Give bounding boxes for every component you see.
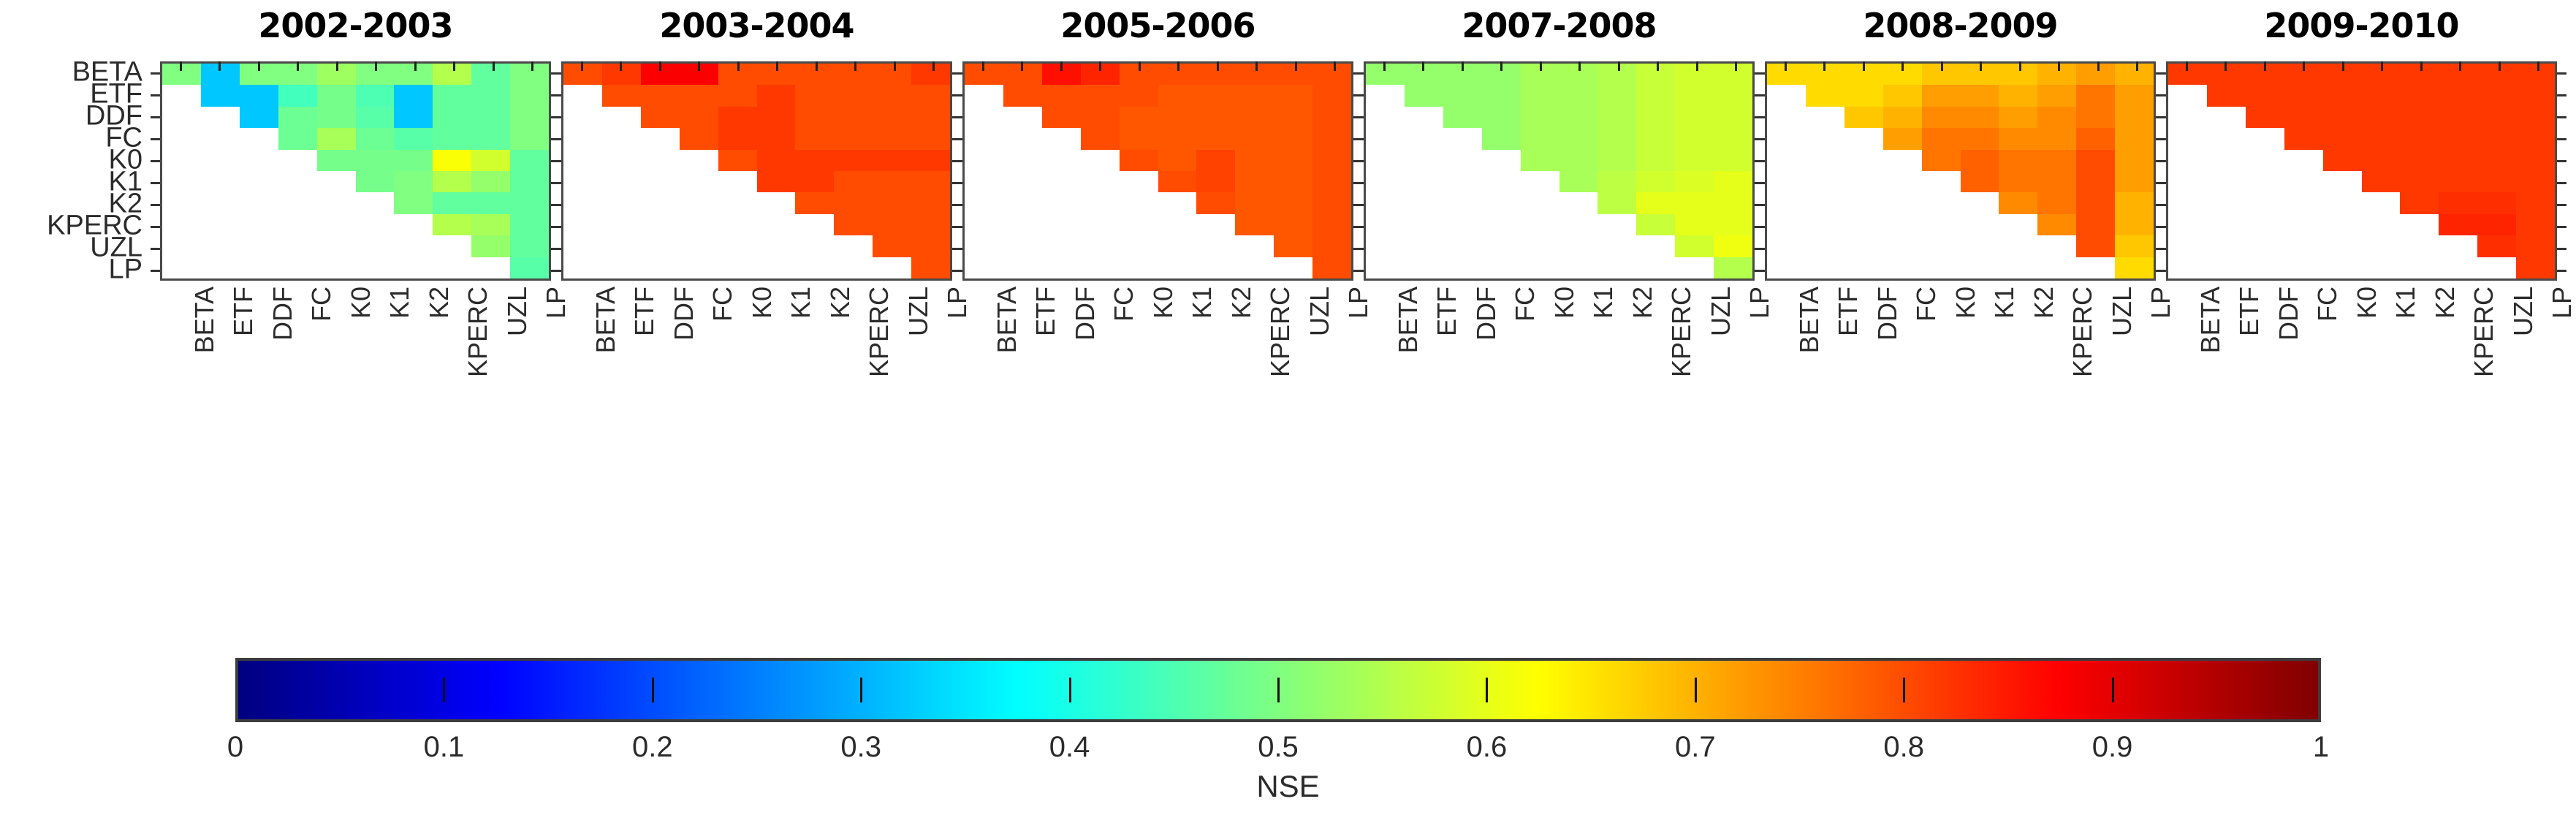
y-axis-tick bbox=[1755, 226, 1765, 228]
heatmap-cell bbox=[1999, 107, 2037, 128]
heatmap-cell bbox=[718, 150, 757, 171]
heatmap-cell bbox=[278, 85, 317, 106]
y-axis-tick bbox=[2157, 116, 2166, 118]
heatmap-cell bbox=[1081, 150, 1120, 171]
heatmap-cell bbox=[2439, 257, 2477, 278]
y-axis-tick bbox=[1354, 160, 1364, 162]
heatmap-cell bbox=[2439, 214, 2477, 235]
heatmap-cell bbox=[641, 235, 680, 257]
heatmap-cell bbox=[1521, 128, 1559, 149]
panel-title-2008-2009: 2008-2009 bbox=[1765, 6, 2156, 45]
x-axis-label-fc: FC bbox=[2312, 287, 2343, 322]
y-axis-tick bbox=[151, 94, 160, 96]
y-axis-tick bbox=[953, 72, 962, 75]
heatmap-cell bbox=[2076, 107, 2115, 128]
heatmap-cell bbox=[1961, 128, 1999, 149]
x-axis-tick bbox=[297, 61, 299, 71]
heatmap-cell bbox=[1844, 214, 1883, 235]
heatmap-cell bbox=[1366, 192, 1405, 213]
heatmap-cell bbox=[2362, 85, 2401, 106]
x-axis-tick bbox=[698, 61, 700, 71]
x-axis-label-k2: K2 bbox=[424, 287, 455, 319]
heatmap-cell bbox=[1806, 85, 1844, 106]
heatmap-cell bbox=[602, 192, 641, 213]
heatmap-grid bbox=[1364, 61, 1755, 281]
heatmap-cell bbox=[1675, 257, 1714, 278]
y-axis-tick bbox=[151, 72, 160, 75]
y-axis-tick bbox=[1354, 72, 1364, 75]
panel-title-2002-2003: 2002-2003 bbox=[160, 6, 551, 45]
x-axis-tick bbox=[1980, 61, 1982, 71]
x-axis-tick bbox=[2097, 61, 2100, 71]
heatmap-cell bbox=[2037, 214, 2076, 235]
heatmap-grid bbox=[962, 61, 1353, 281]
x-axis-label-etf: ETF bbox=[1030, 287, 1061, 336]
heatmap-cell bbox=[1405, 214, 1443, 235]
heatmap-cell bbox=[641, 214, 680, 235]
heatmap-cell bbox=[2284, 107, 2323, 128]
heatmap-cell bbox=[1366, 257, 1405, 278]
y-axis-tick bbox=[1354, 204, 1364, 206]
heatmap-cell bbox=[795, 257, 834, 278]
x-axis-label-k1: K1 bbox=[786, 287, 816, 319]
x-axis-label-fc: FC bbox=[1510, 287, 1540, 322]
heatmap-cell bbox=[433, 171, 471, 192]
heatmap-cell bbox=[1003, 85, 1042, 106]
heatmap-cell bbox=[1196, 171, 1235, 192]
x-axis-label-beta: BETA bbox=[1794, 287, 1825, 353]
heatmap-cell bbox=[471, 257, 510, 278]
x-axis-tick bbox=[1823, 61, 1825, 71]
heatmap-cell bbox=[510, 64, 549, 85]
heatmap-cell bbox=[1636, 171, 1675, 192]
heatmap-cell bbox=[757, 171, 796, 192]
x-axis-label-fc: FC bbox=[1911, 287, 1942, 322]
heatmap-cell bbox=[873, 128, 911, 149]
heatmap-cell bbox=[911, 214, 950, 235]
x-axis-tick bbox=[1099, 61, 1101, 71]
heatmap-cell bbox=[2516, 235, 2555, 257]
heatmap-cell bbox=[1312, 85, 1351, 106]
x-axis-label-etf: ETF bbox=[2234, 287, 2265, 336]
x-axis-label-fc: FC bbox=[1109, 287, 1139, 322]
y-axis-tick bbox=[151, 160, 160, 162]
heatmap-cell bbox=[911, 171, 950, 192]
x-axis-tick bbox=[453, 61, 455, 71]
heatmap-cell bbox=[2037, 171, 2076, 192]
x-axis-label-kperc: KPERC bbox=[2067, 287, 2098, 377]
heatmap-cell bbox=[1521, 171, 1559, 192]
heatmap-cell bbox=[1806, 257, 1844, 278]
heatmap-cell bbox=[1443, 214, 1482, 235]
heatmap-cell bbox=[1714, 192, 1752, 213]
heatmap-cell bbox=[2323, 107, 2362, 128]
heatmap-cell bbox=[680, 107, 718, 128]
heatmap-cell bbox=[356, 107, 395, 128]
heatmap-cell bbox=[1482, 85, 1521, 106]
heatmap-cell bbox=[834, 128, 873, 149]
heatmap-cell bbox=[680, 192, 718, 213]
x-axis-label-lp: LP bbox=[2547, 287, 2576, 319]
y-axis-tick bbox=[953, 248, 962, 250]
y-axis-label-lp: LP bbox=[109, 254, 143, 286]
heatmap-cell bbox=[2477, 214, 2516, 235]
colorbar-tick-label-0.3: 0.3 bbox=[840, 731, 881, 764]
heatmap-cell bbox=[471, 107, 510, 128]
heatmap-cell bbox=[1767, 192, 1806, 213]
heatmap-cell bbox=[510, 150, 549, 171]
heatmap-cell bbox=[1081, 128, 1120, 149]
heatmap-cell bbox=[240, 235, 278, 257]
heatmap-cell bbox=[2207, 85, 2246, 106]
x-axis-labels: BETAETFDDFFCK0K1K2KPERCUZLLP bbox=[160, 287, 551, 433]
heatmap-cell bbox=[1312, 64, 1351, 85]
heatmap-cell bbox=[1636, 235, 1675, 257]
heatmap-cell bbox=[2284, 257, 2323, 278]
heatmap-cell bbox=[2362, 192, 2401, 213]
x-axis-label-k0: K0 bbox=[1148, 287, 1179, 319]
heatmap-cell bbox=[1675, 128, 1714, 149]
x-axis-tick bbox=[258, 61, 260, 71]
heatmap-cell bbox=[1405, 171, 1443, 192]
heatmap-panel-2003-2004 bbox=[561, 61, 952, 281]
y-axis-tick bbox=[2157, 270, 2166, 272]
heatmap-cell bbox=[1714, 171, 1752, 192]
heatmap-cell bbox=[2439, 235, 2477, 257]
heatmap-cell bbox=[1961, 171, 1999, 192]
heatmap-cell bbox=[641, 192, 680, 213]
heatmap-cell bbox=[433, 235, 471, 257]
heatmap-cell bbox=[2362, 171, 2401, 192]
heatmap-cell bbox=[563, 171, 602, 192]
nse-heatmap-figure: BETAETFDDFFCK0K1K2KPERCUZLLP 2002-2003BE… bbox=[0, 0, 2576, 815]
heatmap-cell bbox=[2516, 128, 2555, 149]
x-axis-labels: BETAETFDDFFCK0K1K2KPERCUZLLP bbox=[1364, 287, 1755, 433]
x-axis-labels: BETAETFDDFFCK0K1K2KPERCUZLLP bbox=[2166, 287, 2557, 433]
heatmap-cell bbox=[1042, 257, 1081, 278]
heatmap-cell bbox=[1883, 85, 1922, 106]
heatmap-cell bbox=[563, 107, 602, 128]
heatmap-cell bbox=[1714, 128, 1752, 149]
heatmap-cell bbox=[2362, 257, 2401, 278]
x-axis-label-k0: K0 bbox=[346, 287, 376, 319]
heatmap-cell bbox=[1235, 171, 1274, 192]
heatmap-cell bbox=[356, 150, 395, 171]
heatmap-cell bbox=[2439, 64, 2477, 85]
heatmap-panel-2005-2006 bbox=[962, 61, 1353, 281]
heatmap-cell bbox=[2037, 64, 2076, 85]
heatmap-cell bbox=[1482, 150, 1521, 171]
heatmap-cell bbox=[2284, 128, 2323, 149]
x-axis-label-k1: K1 bbox=[384, 287, 415, 319]
heatmap-cell bbox=[1922, 171, 1961, 192]
heatmap-grid bbox=[1765, 61, 2156, 281]
heatmap-cell bbox=[2284, 192, 2323, 213]
heatmap-cell bbox=[2168, 235, 2207, 257]
heatmap-cell bbox=[1767, 171, 1806, 192]
heatmap-cell bbox=[1597, 171, 1636, 192]
heatmap-cell bbox=[2400, 150, 2439, 171]
heatmap-cell bbox=[1636, 214, 1675, 235]
heatmap-cell bbox=[873, 171, 911, 192]
heatmap-cell bbox=[2400, 235, 2439, 257]
heatmap-cell bbox=[162, 192, 201, 213]
y-axis-tick bbox=[552, 116, 561, 118]
heatmap-cell bbox=[2516, 192, 2555, 213]
heatmap-cell bbox=[240, 214, 278, 235]
y-axis-tick bbox=[1755, 270, 1765, 272]
heatmap-cell bbox=[1597, 257, 1636, 278]
x-axis-tick bbox=[493, 61, 495, 71]
heatmap-cell bbox=[1443, 171, 1482, 192]
heatmap-cell bbox=[2400, 192, 2439, 213]
heatmap-cell bbox=[1675, 214, 1714, 235]
heatmap-cell bbox=[1081, 171, 1120, 192]
colorbar-tick-label-1: 1 bbox=[2313, 731, 2329, 764]
heatmap-cell bbox=[795, 171, 834, 192]
heatmap-cell bbox=[2323, 192, 2362, 213]
x-axis-tick bbox=[2264, 61, 2266, 71]
heatmap-cell bbox=[1767, 214, 1806, 235]
x-axis-tick bbox=[2303, 61, 2305, 71]
heatmap-cell bbox=[278, 235, 317, 257]
heatmap-cell bbox=[1961, 192, 1999, 213]
y-axis-tick bbox=[953, 138, 962, 140]
heatmap-cell bbox=[471, 214, 510, 235]
heatmap-cell bbox=[1081, 214, 1120, 235]
heatmap-cell bbox=[2037, 107, 2076, 128]
heatmap-cell bbox=[1158, 171, 1197, 192]
heatmap-cell bbox=[563, 192, 602, 213]
x-axis-tick bbox=[1863, 61, 1865, 71]
heatmap-cell bbox=[2439, 128, 2477, 149]
heatmap-cell bbox=[2516, 85, 2555, 106]
heatmap-cell bbox=[1559, 235, 1598, 257]
y-axis-tick bbox=[1755, 182, 1765, 184]
x-axis-tick bbox=[1462, 61, 1464, 71]
y-axis-tick bbox=[151, 248, 160, 250]
heatmap-cell bbox=[1559, 214, 1598, 235]
heatmap-cell bbox=[2246, 128, 2284, 149]
heatmap-cell bbox=[2115, 128, 2154, 149]
y-axis-tick bbox=[953, 226, 962, 228]
heatmap-cell bbox=[2246, 235, 2284, 257]
heatmap-cell bbox=[2076, 64, 2115, 85]
heatmap-cell bbox=[718, 107, 757, 128]
heatmap-cell bbox=[834, 235, 873, 257]
heatmap-cell bbox=[563, 150, 602, 171]
x-axis-labels: BETAETFDDFFCK0K1K2KPERCUZLLP bbox=[962, 287, 1353, 433]
y-axis-tick-right bbox=[2557, 160, 2566, 162]
heatmap-cell bbox=[1405, 85, 1443, 106]
heatmap-cell bbox=[563, 214, 602, 235]
heatmap-cell bbox=[1158, 128, 1197, 149]
heatmap-cell bbox=[1042, 85, 1081, 106]
heatmap-cell bbox=[2477, 85, 2516, 106]
y-axis-tick bbox=[1755, 72, 1765, 75]
heatmap-cell bbox=[2323, 150, 2362, 171]
heatmap-cell bbox=[1806, 150, 1844, 171]
heatmap-cell bbox=[356, 128, 395, 149]
heatmap-cell bbox=[2115, 107, 2154, 128]
x-axis-label-k1: K1 bbox=[1989, 287, 2020, 319]
heatmap-cell bbox=[795, 150, 834, 171]
heatmap-cell bbox=[965, 235, 1003, 257]
heatmap-cell bbox=[1883, 107, 1922, 128]
heatmap-grid bbox=[561, 61, 952, 281]
heatmap-cell bbox=[1003, 214, 1042, 235]
y-axis-tick-right bbox=[2557, 270, 2566, 272]
x-axis-label-ddf: DDF bbox=[1872, 287, 1903, 341]
heatmap-cell bbox=[2037, 235, 2076, 257]
heatmap-cell bbox=[602, 214, 641, 235]
heatmap-panel-2009-2010 bbox=[2166, 61, 2557, 281]
heatmap-cell bbox=[680, 235, 718, 257]
heatmap-cell bbox=[1675, 85, 1714, 106]
heatmap-cell bbox=[965, 192, 1003, 213]
heatmap-cell bbox=[911, 107, 950, 128]
x-axis-label-kperc: KPERC bbox=[2469, 287, 2499, 377]
heatmap-cell bbox=[563, 85, 602, 106]
heatmap-cell bbox=[1196, 150, 1235, 171]
heatmap-cell bbox=[2439, 85, 2477, 106]
heatmap-cell bbox=[1597, 150, 1636, 171]
x-axis-tick bbox=[816, 61, 818, 71]
heatmap-cell bbox=[162, 128, 201, 149]
y-axis-tick-right bbox=[2557, 116, 2566, 118]
heatmap-cell bbox=[1714, 214, 1752, 235]
heatmap-cell bbox=[394, 128, 433, 149]
heatmap-cell bbox=[1961, 214, 1999, 235]
heatmap-cell bbox=[471, 150, 510, 171]
heatmap-cell bbox=[394, 235, 433, 257]
heatmap-cell bbox=[2115, 214, 2154, 235]
y-axis-tick bbox=[552, 204, 561, 206]
heatmap-cell bbox=[1521, 107, 1559, 128]
y-axis-labels: BETAETFDDFFCK0K1K2KPERCUZLLP bbox=[0, 61, 150, 281]
heatmap-cell bbox=[2516, 257, 2555, 278]
x-axis-tick bbox=[1578, 61, 1581, 71]
heatmap-cell bbox=[1274, 171, 1312, 192]
heatmap-cell bbox=[1521, 85, 1559, 106]
heatmap-cell bbox=[2477, 192, 2516, 213]
heatmap-cell bbox=[2323, 235, 2362, 257]
heatmap-cell bbox=[1714, 150, 1752, 171]
x-axis-tick bbox=[1500, 61, 1502, 71]
heatmap-cell bbox=[2362, 128, 2401, 149]
y-axis-tick bbox=[1755, 204, 1765, 206]
heatmap-cell bbox=[602, 107, 641, 128]
heatmap-cell bbox=[1844, 85, 1883, 106]
heatmap-cell bbox=[757, 128, 796, 149]
heatmap-cell bbox=[2516, 150, 2555, 171]
heatmap-cell bbox=[1366, 85, 1405, 106]
heatmap-cell bbox=[795, 235, 834, 257]
x-axis-tick bbox=[1060, 61, 1063, 71]
y-axis-tick bbox=[552, 94, 561, 96]
heatmap-cell bbox=[1636, 192, 1675, 213]
x-axis-tick bbox=[336, 61, 338, 71]
heatmap-cell bbox=[1366, 171, 1405, 192]
x-axis-label-uzl: UZL bbox=[2107, 287, 2138, 336]
heatmap-cell bbox=[471, 128, 510, 149]
heatmap-cell bbox=[873, 107, 911, 128]
heatmap-cell bbox=[433, 85, 471, 106]
heatmap-cell bbox=[1120, 107, 1158, 128]
heatmap-cell bbox=[1806, 171, 1844, 192]
heatmap-cell bbox=[201, 150, 240, 171]
heatmap-cell bbox=[2439, 171, 2477, 192]
heatmap-cell bbox=[563, 257, 602, 278]
heatmap-cell bbox=[1767, 235, 1806, 257]
x-axis-label-k2: K2 bbox=[825, 287, 856, 319]
heatmap-cell bbox=[1366, 107, 1405, 128]
x-axis-tick bbox=[1177, 61, 1179, 71]
x-axis-tick bbox=[2420, 61, 2423, 71]
heatmap-cell bbox=[317, 85, 356, 106]
heatmap-cell bbox=[1312, 235, 1351, 257]
x-axis-tick bbox=[1657, 61, 1659, 71]
heatmap-cell bbox=[2439, 192, 2477, 213]
y-axis-tick bbox=[2157, 204, 2166, 206]
heatmap-cell bbox=[1405, 257, 1443, 278]
heatmap-cell bbox=[1003, 192, 1042, 213]
colorbar-tick-label-0.7: 0.7 bbox=[1675, 731, 1716, 764]
heatmap-cell bbox=[394, 257, 433, 278]
colorbar-tick-label-0.1: 0.1 bbox=[424, 731, 465, 764]
panel-title-2009-2010: 2009-2010 bbox=[2166, 6, 2557, 45]
heatmap-cell bbox=[510, 85, 549, 106]
y-axis-tick bbox=[1354, 248, 1364, 250]
heatmap-cell bbox=[1081, 235, 1120, 257]
heatmap-cell bbox=[2207, 107, 2246, 128]
heatmap-cell bbox=[1158, 214, 1197, 235]
heatmap-cell bbox=[1120, 235, 1158, 257]
heatmap-cell bbox=[317, 150, 356, 171]
heatmap-cell bbox=[1844, 171, 1883, 192]
heatmap-cell bbox=[873, 257, 911, 278]
heatmap-cell bbox=[278, 214, 317, 235]
heatmap-cell bbox=[2168, 257, 2207, 278]
x-axis-tick bbox=[1618, 61, 1620, 71]
x-axis-label-beta: BETA bbox=[992, 287, 1022, 353]
heatmap-cell bbox=[1844, 107, 1883, 128]
heatmap-cell bbox=[1767, 85, 1806, 106]
heatmap-cell bbox=[1559, 257, 1598, 278]
heatmap-cell bbox=[1003, 235, 1042, 257]
heatmap-cell bbox=[1559, 85, 1598, 106]
heatmap-cell bbox=[2207, 257, 2246, 278]
x-axis-label-uzl: UZL bbox=[903, 287, 934, 336]
heatmap-cell bbox=[356, 235, 395, 257]
heatmap-cell bbox=[2477, 257, 2516, 278]
heatmap-cell bbox=[965, 257, 1003, 278]
y-axis-tick bbox=[552, 270, 561, 272]
heatmap-cell bbox=[2400, 214, 2439, 235]
x-axis-label-k0: K0 bbox=[1950, 287, 1981, 319]
y-axis-tick bbox=[1354, 116, 1364, 118]
heatmap-cell bbox=[1443, 192, 1482, 213]
x-axis-tick bbox=[1785, 61, 1787, 71]
heatmap-cell bbox=[2362, 107, 2401, 128]
x-axis-label-k0: K0 bbox=[747, 287, 778, 319]
y-axis-tick-right bbox=[2557, 94, 2566, 96]
x-axis-tick bbox=[1217, 61, 1219, 71]
heatmap-cell bbox=[1158, 257, 1197, 278]
heatmap-cell bbox=[433, 192, 471, 213]
heatmap-cell bbox=[162, 235, 201, 257]
heatmap-cell bbox=[718, 257, 757, 278]
